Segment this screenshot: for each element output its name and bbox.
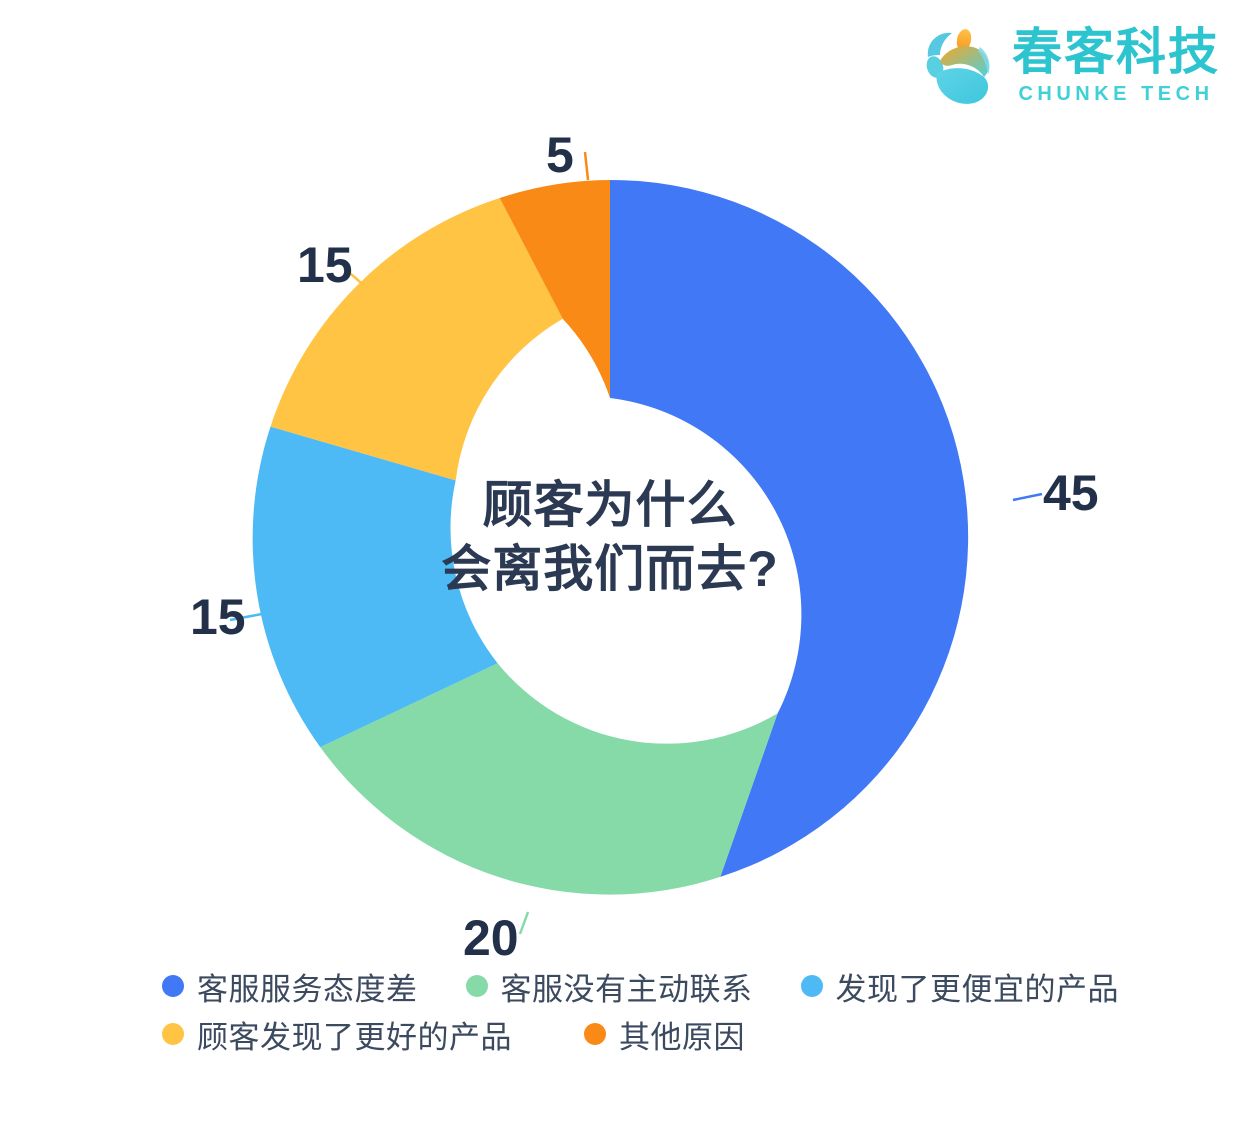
legend-item-other-reasons[interactable]: 其他原因 [584,1010,745,1058]
legend-swatch-icon [801,975,823,997]
value-label-5: 5 [546,130,574,180]
legend-item-found-better-product[interactable]: 顾客发现了更好的产品 [162,1010,512,1058]
donut-slices [253,180,969,895]
legend-label: 顾客发现了更好的产品 [197,1012,512,1057]
chart-legend: 客服服务态度差 客服没有主动联系 发现了更便宜的产品 顾客发现了更好的产品 其他… [162,962,1142,1058]
leader-line-5 [585,152,588,180]
legend-item-customer-service-attitude[interactable]: 客服服务态度差 [162,962,418,1010]
legend-swatch-icon [584,1023,606,1045]
value-label-20: 20 [463,913,519,963]
leader-line-45 [1013,494,1042,500]
legend-label: 其他原因 [619,1012,745,1057]
legend-item-no-proactive-contact[interactable]: 客服没有主动联系 [466,962,753,1010]
legend-label: 客服没有主动联系 [501,964,753,1009]
legend-label: 客服服务态度差 [197,964,418,1009]
value-label-45: 45 [1043,468,1099,518]
legend-swatch-icon [162,1023,184,1045]
donut-chart: 顾客为什么 会离我们而去? 45 20 15 15 5 [0,0,1242,960]
legend-label: 发现了更便宜的产品 [836,964,1120,1009]
value-label-15-cheaper: 15 [190,592,246,642]
value-label-15-better: 15 [297,240,353,290]
leader-line-20 [520,912,528,934]
legend-swatch-icon [466,975,488,997]
legend-item-found-cheaper-product[interactable]: 发现了更便宜的产品 [801,962,1120,1010]
legend-swatch-icon [162,975,184,997]
